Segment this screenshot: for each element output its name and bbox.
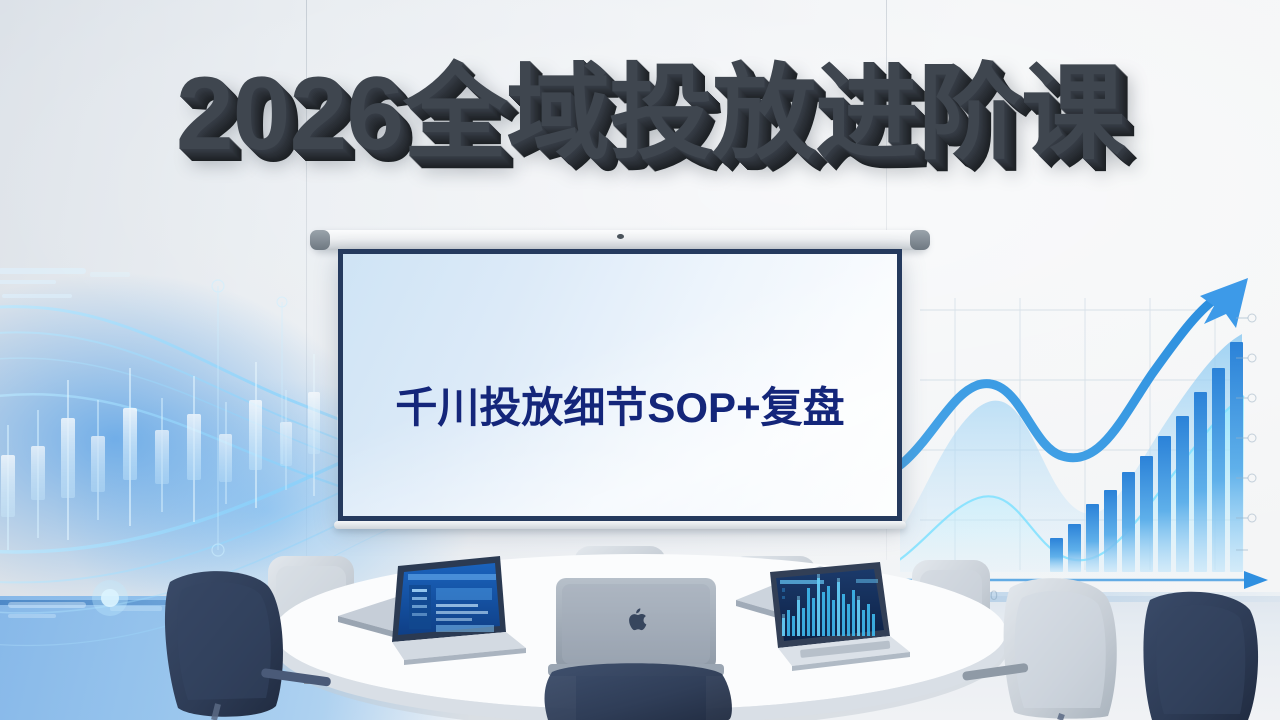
chair-front-far-left-dark xyxy=(22,690,152,720)
laptop-center-macbook[interactable] xyxy=(548,578,724,676)
chair-front-center-dark xyxy=(545,663,732,720)
chair-front-far-right-dark xyxy=(1143,592,1258,720)
poster-canvas: 100 0 200 2026全域投放进阶课 千川投放细节SOP+复盘 xyxy=(0,0,1280,720)
meeting-furniture xyxy=(0,0,1280,720)
furniture-svg xyxy=(0,0,1280,720)
